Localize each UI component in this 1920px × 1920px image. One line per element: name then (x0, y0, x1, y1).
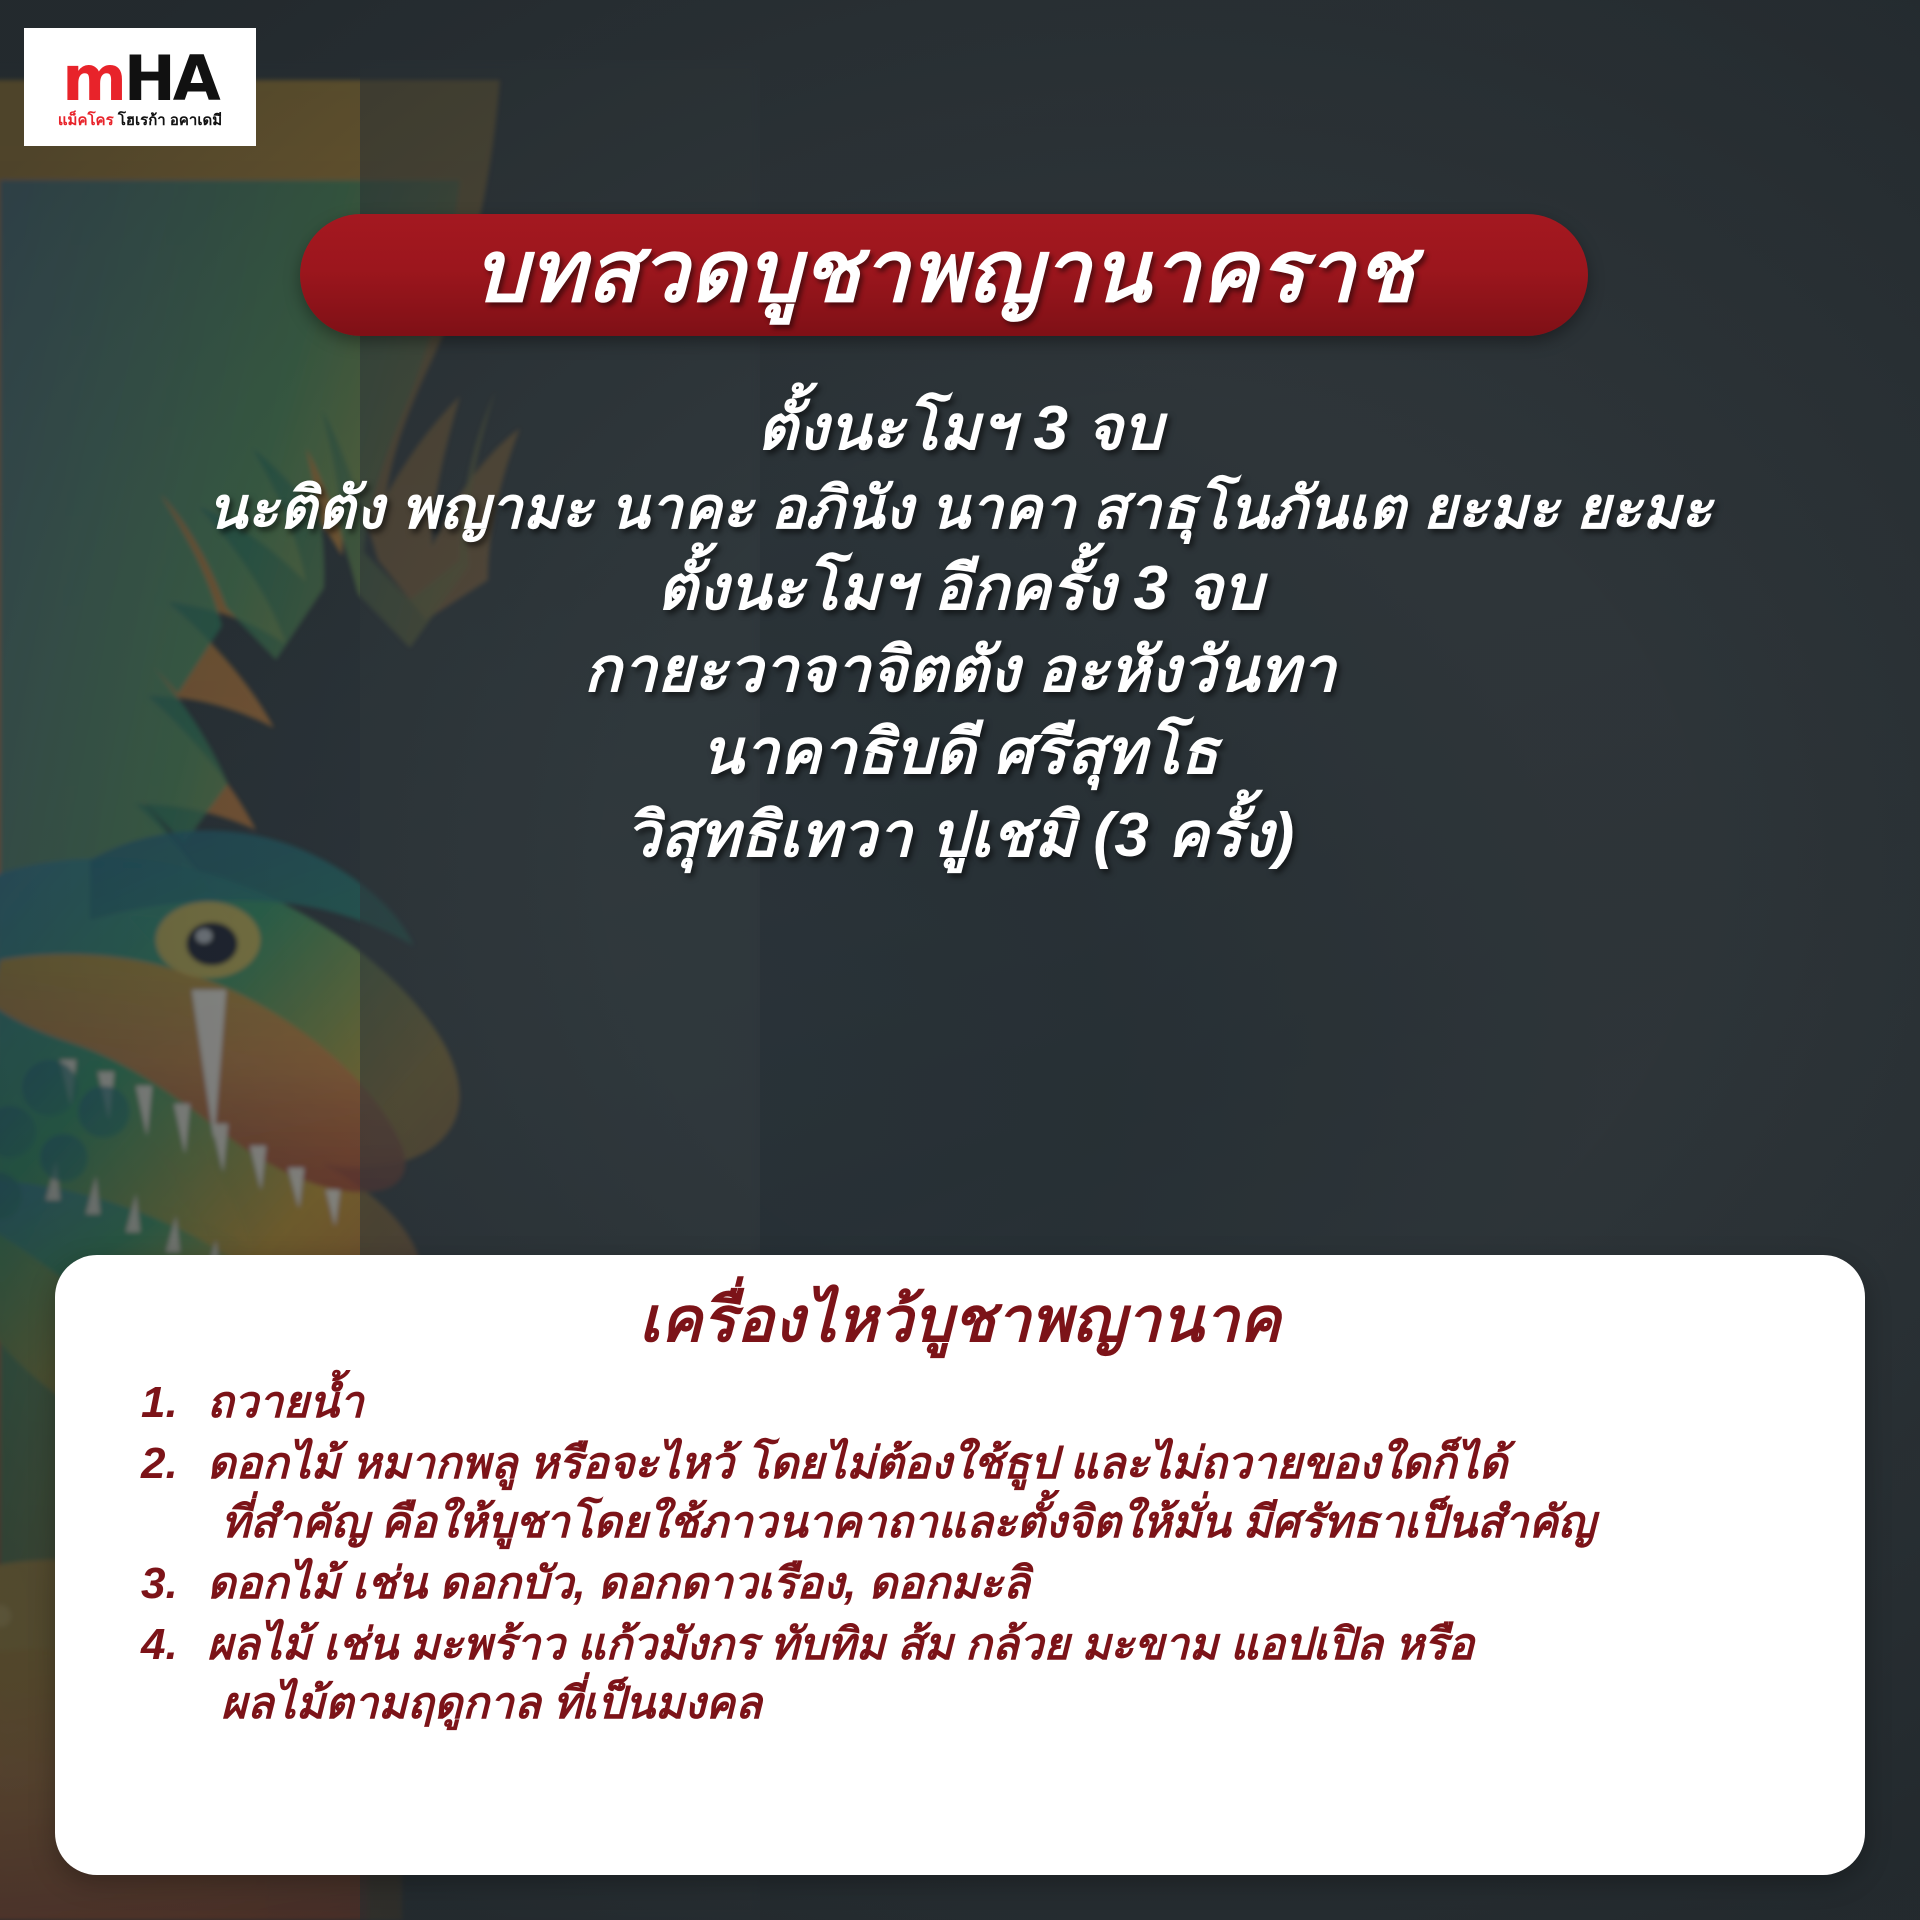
list-item-text-group: ผลไม้ เช่น มะพร้าว แก้วมังกร ทับทิม ส้ม … (207, 1616, 1819, 1734)
brand-logo[interactable]: mHA แม็คโคร โฮเรก้า อคาเดมี (24, 28, 256, 146)
poster-canvas: mHA แม็คโคร โฮเรก้า อคาเดมี บทสวดบูชาพญา… (0, 0, 1920, 1920)
list-item-text: ถวายน้ำ (207, 1374, 1819, 1433)
list-item-continuation: ผลไม้ตามฤดูกาล ที่เป็นมงคล (207, 1675, 1819, 1734)
list-item-number: 4. (141, 1616, 207, 1675)
offerings-heading: เครื่องไหว้บูชาพญานาค (101, 1285, 1819, 1356)
list-item: 3. ดอกไม้ เช่น ดอกบัว, ดอกดาวเรือง, ดอกม… (141, 1555, 1819, 1614)
list-item-number: 1. (141, 1374, 207, 1433)
verse-line: กายะวาจาจิตตัง อะหังวันทา (0, 630, 1920, 712)
list-item-text-group: ดอกไม้ หมากพลู หรือจะไหว้ โดยไม่ต้องใช้ธ… (207, 1435, 1819, 1553)
logo-subtitle-red: แม็คโคร (58, 112, 114, 129)
verse-line: นะติตัง พญามะ นาคะ อภินัง นาคา สาธุโนภัน… (0, 470, 1920, 547)
list-item: 2. ดอกไม้ หมากพลู หรือจะไหว้ โดยไม่ต้องใ… (141, 1435, 1819, 1553)
list-item-number: 2. (141, 1435, 207, 1494)
page-title: บทสวดบูชาพญานาคราช (473, 229, 1415, 315)
logo-wordmark-dark: HA (124, 50, 218, 109)
list-item-text: ดอกไม้ เช่น ดอกบัว, ดอกดาวเรือง, ดอกมะลิ (207, 1555, 1819, 1614)
verse-line: ตั้งนะโมฯ 3 จบ (0, 388, 1920, 470)
title-banner: บทสวดบูชาพญานาคราช (300, 214, 1588, 336)
list-item: 1. ถวายน้ำ (141, 1374, 1819, 1433)
logo-wordmark-red: m (62, 50, 124, 109)
logo-subtitle: แม็คโคร โฮเรก้า อคาเดมี (58, 113, 222, 128)
list-item-text: ดอกไม้ หมากพลู หรือจะไหว้ โดยไม่ต้องใช้ธ… (207, 1439, 1507, 1488)
verse-line: ตั้งนะโมฯ อีกครั้ง 3 จบ (0, 548, 1920, 630)
offerings-list: 1. ถวายน้ำ 2. ดอกไม้ หมากพลู หรือจะไหว้ … (101, 1374, 1819, 1734)
list-item-number: 3. (141, 1555, 207, 1614)
logo-wordmark: mHA (62, 50, 217, 109)
chant-verse-block: ตั้งนะโมฯ 3 จบ นะติตัง พญามะ นาคะ อภินัง… (0, 388, 1920, 877)
list-item-text: ผลไม้ เช่น มะพร้าว แก้วมังกร ทับทิม ส้ม … (207, 1620, 1474, 1669)
verse-line: นาคาธิบดี ศรีสุทโธ (0, 712, 1920, 794)
verse-line: วิสุทธิเทวา ปูเชมิ (3 ครั้ง) (0, 795, 1920, 877)
offerings-card: เครื่องไหว้บูชาพญานาค 1. ถวายน้ำ 2. ดอกไ… (55, 1255, 1865, 1875)
logo-subtitle-dark: โฮเรก้า อคาเดมี (118, 112, 222, 129)
list-item-continuation: ที่สำคัญ คือให้บูชาโดยใช้ภาวนาคาถาและตั้… (207, 1494, 1819, 1553)
list-item: 4. ผลไม้ เช่น มะพร้าว แก้วมังกร ทับทิม ส… (141, 1616, 1819, 1734)
